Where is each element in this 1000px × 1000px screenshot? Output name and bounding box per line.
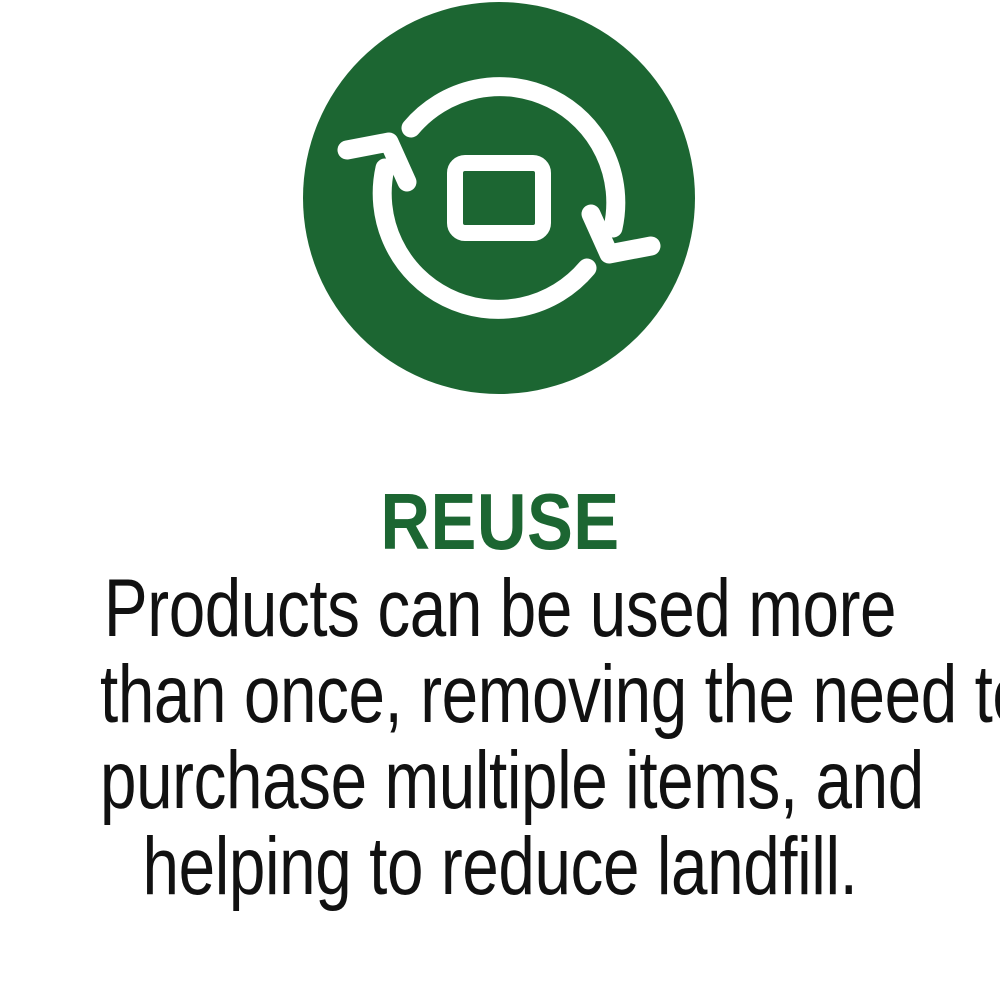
badge-circle bbox=[303, 2, 695, 394]
reuse-icon-badge bbox=[303, 2, 695, 394]
description-line: Products can be used more bbox=[100, 566, 900, 652]
description-line: helping to reduce landfill. bbox=[100, 824, 900, 910]
reuse-circular-arrows-icon bbox=[303, 2, 695, 394]
description-text: Products can be used more than once, rem… bbox=[0, 566, 1000, 910]
description-line: than once, removing the need to bbox=[100, 652, 900, 738]
description-line: purchase multiple items, and bbox=[100, 738, 900, 824]
page-title: REUSE bbox=[70, 482, 930, 562]
reuse-info-card: REUSE Products can be used more than onc… bbox=[0, 0, 1000, 1000]
